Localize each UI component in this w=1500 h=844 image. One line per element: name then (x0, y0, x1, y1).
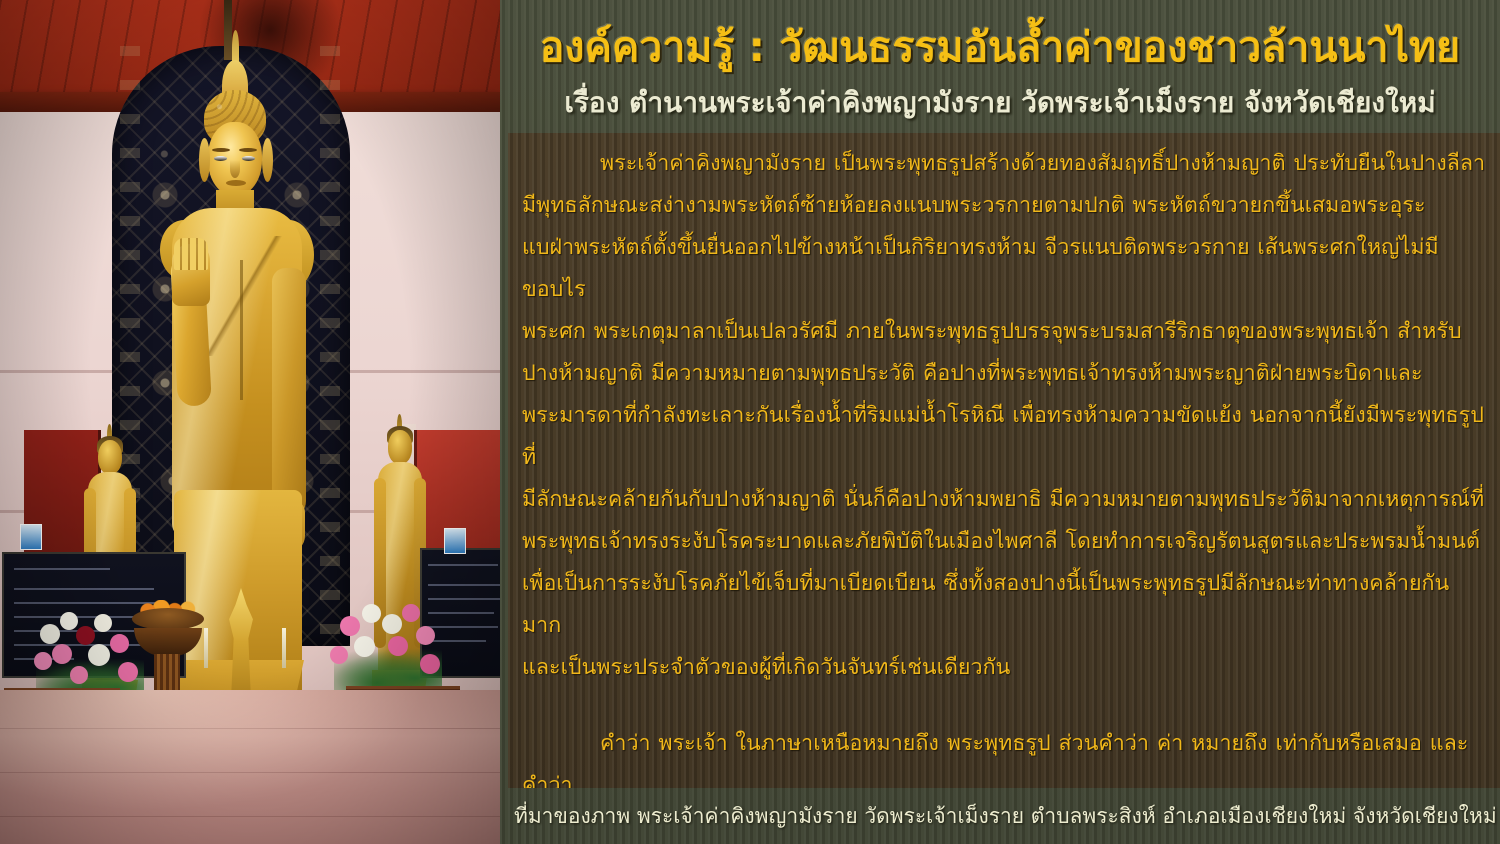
paragraph-line: คำว่า พระเจ้า ในภาษาเหนือหมายถึง พระพุทธ… (522, 723, 1488, 788)
article-paragraphs: พระเจ้าค่าคิงพญามังราย เป็นพระพุทธรูปสร้… (508, 133, 1500, 788)
paragraph-line: เพื่อเป็นการระงับโรคภัยไข้เจ็บที่มาเบียด… (522, 563, 1488, 647)
blue-card-right (444, 528, 466, 554)
paragraph-line: พระมารดาที่กำลังทะเลาะกันเรื่องน้ำที่ริม… (522, 395, 1488, 479)
knowledge-poster: องค์ความรู้ : วัฒนธรรมอันล้ำค่าของชาวล้า… (0, 0, 1500, 844)
golden-standing-buddha-photo (0, 0, 500, 844)
paragraph-line: พระเจ้าค่าคิงพญามังราย เป็นพระพุทธรูปสร้… (522, 143, 1488, 185)
candle-left (204, 628, 208, 668)
paragraph-line: และเป็นพระประจำตัวของผู้ที่เกิดวันจันทร์… (522, 647, 1488, 689)
flower-offerings-right (328, 598, 448, 698)
knowledge-text-panel: องค์ความรู้ : วัฒนธรรมอันล้ำค่าของชาวล้า… (500, 0, 1500, 844)
hanging-left-arm (272, 268, 306, 518)
paragraph-gap (522, 689, 1488, 723)
robe-sash (208, 236, 282, 356)
poster-header: องค์ความรู้ : วัฒนธรรมอันล้ำค่าของชาวล้า… (500, 0, 1500, 133)
paragraph-line: มีพุทธลักษณะสง่างามพระหัตถ์ซ้ายห้อยลงแนบ… (522, 185, 1488, 227)
paragraph-line: พระศก พระเกตุมาลาเป็นเปลวรัศมี ภายในพระพ… (522, 311, 1488, 353)
photo-credit-footer: ที่มาของภาพ พระเจ้าค่าคิงพญามังราย วัดพร… (500, 788, 1500, 844)
ear-left (199, 138, 210, 182)
blue-card-left (20, 524, 42, 550)
candle-right (282, 628, 286, 668)
page-title: องค์ความรู้ : วัฒนธรรมอันล้ำค่าของชาวล้า… (500, 26, 1500, 69)
paragraph-line: ปางห้ามญาติ มีความหมายตามพุทธประวัติ คือ… (522, 353, 1488, 395)
paragraph-line: พระพุทธเจ้าทรงระงับโรคระบาดและภัยพิบัติใ… (522, 521, 1488, 563)
arch-spire (224, 0, 232, 60)
article-body: พระเจ้าค่าคิงพญามังราย เป็นพระพุทธรูปสร้… (508, 133, 1500, 788)
ear-right (262, 138, 273, 182)
photo-credit-text: ที่มาของภาพ พระเจ้าค่าคิงพญามังราย วัดพร… (500, 800, 1497, 833)
page-subtitle: เรื่อง ตำนานพระเจ้าค่าคิงพญามังราย วัดพร… (500, 88, 1500, 117)
paragraph-line: มีลักษณะคล้ายกันกับปางห้ามญาติ นั่นก็คือ… (522, 479, 1488, 521)
paragraph-line: แบฝ่าพระหัตถ์ตั้งขึ้นยื่นออกไปข้างหน้าเป… (522, 227, 1488, 311)
